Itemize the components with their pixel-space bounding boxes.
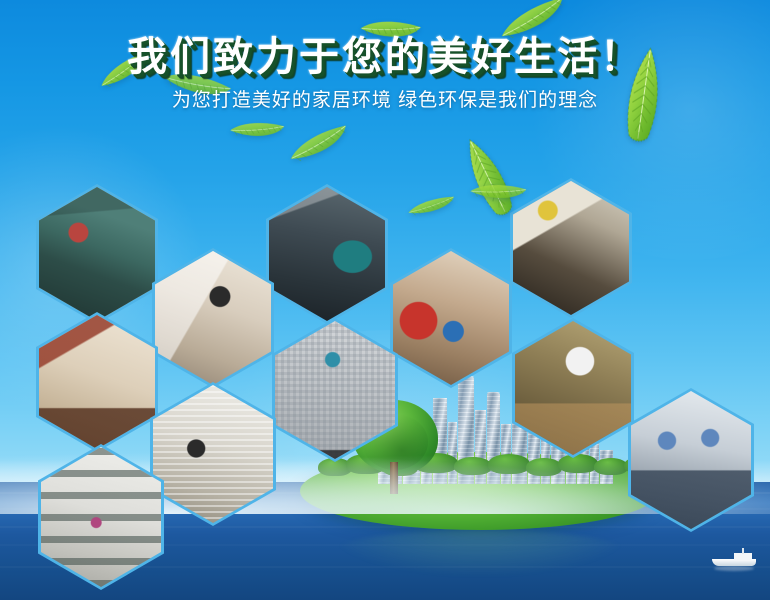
hex-carpet-machine[interactable] <box>390 248 512 388</box>
floor-polishing-photo <box>515 321 631 455</box>
hex-demolition-worker[interactable] <box>36 184 158 324</box>
hex-glass-roof-cleaning[interactable] <box>628 388 754 532</box>
headline-block: 我们致力于您的美好生活！ 为您打造美好的家居环境 绿色环保是我们的理念 <box>0 0 770 113</box>
hex-duct-cleaning[interactable] <box>266 184 388 324</box>
hex-chandelier-cleaning[interactable] <box>150 382 276 526</box>
duct-cleaning-photo <box>269 187 385 321</box>
promo-banner: 我们致力于您的美好生活！ 为您打造美好的家居环境 绿色环保是我们的理念 <box>0 0 770 600</box>
carpet-machine-photo <box>393 251 509 385</box>
building-exterior-photo <box>41 447 161 587</box>
stair-mopping-photo <box>155 251 271 385</box>
chandelier-cleaning-photo <box>153 385 273 523</box>
hex-railing-painting[interactable] <box>36 312 158 452</box>
hex-stair-mopping[interactable] <box>152 248 274 388</box>
demolition-worker-photo <box>39 187 155 321</box>
facade-rope-access-photo <box>275 321 395 459</box>
hex-floor-polishing[interactable] <box>512 318 634 458</box>
hex-facade-rope-access[interactable] <box>272 318 398 462</box>
hex-kitchen-hood[interactable] <box>510 178 632 318</box>
railing-painting-photo <box>39 315 155 449</box>
glass-roof-cleaning-photo <box>631 391 751 529</box>
page-title: 我们致力于您的美好生活！ <box>0 0 770 78</box>
hex-building-exterior[interactable] <box>38 444 164 590</box>
kitchen-hood-photo <box>513 181 629 315</box>
page-subtitle: 为您打造美好的家居环境 绿色环保是我们的理念 <box>0 90 770 113</box>
